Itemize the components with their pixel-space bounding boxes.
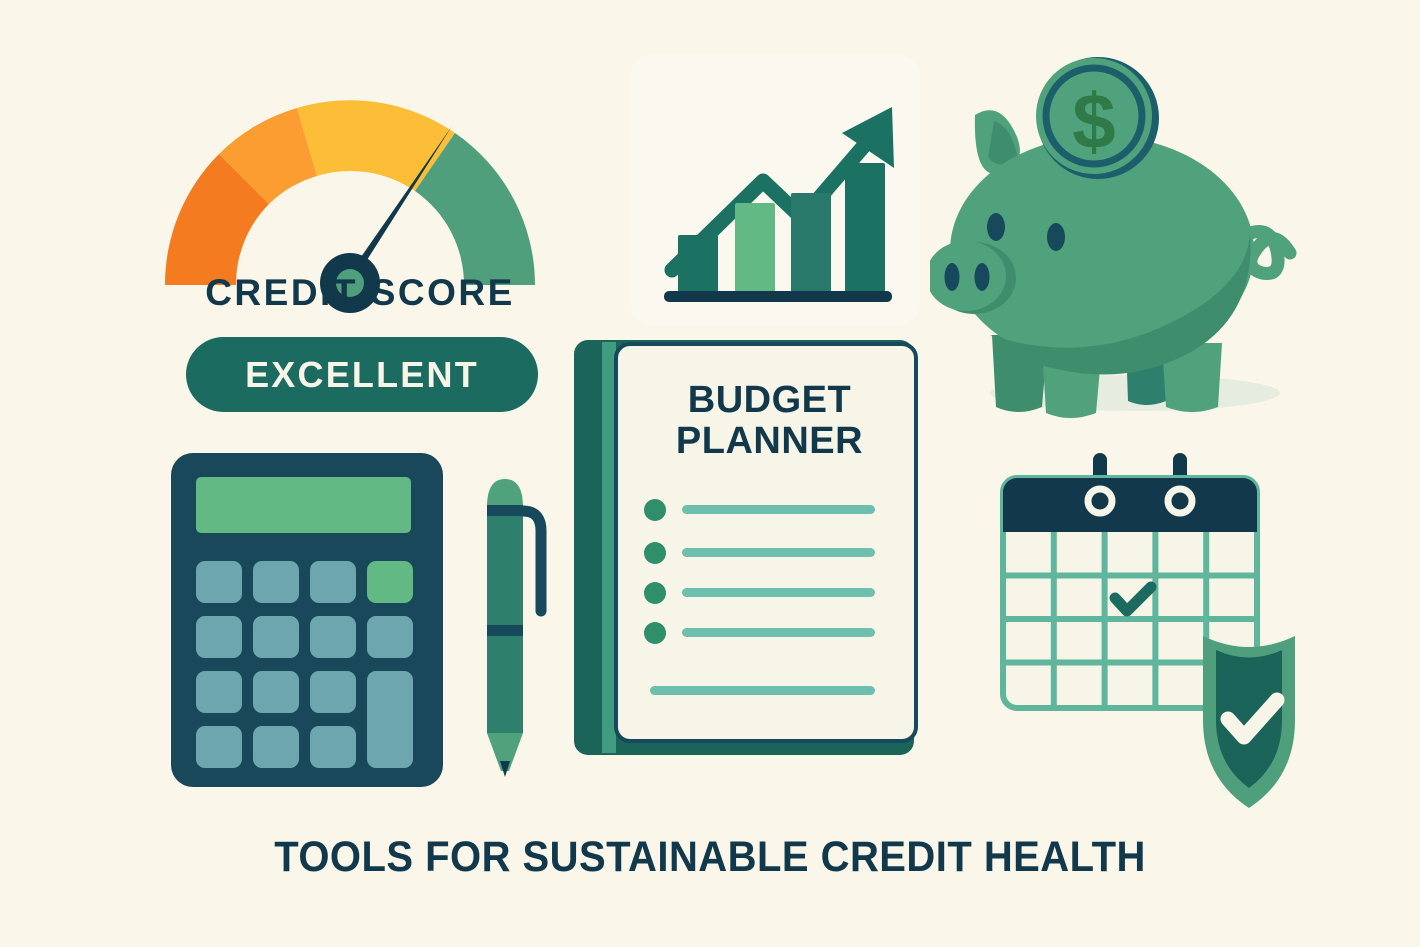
- calculator-key[interactable]: [253, 671, 299, 713]
- calendar-svg: [985, 450, 1295, 810]
- poster-canvas: CREDIT SCORE EXCELLENT: [0, 0, 1420, 947]
- pen-band-lower: [487, 625, 523, 636]
- calculator-key[interactable]: [196, 561, 242, 603]
- pen-illustration: [470, 465, 570, 785]
- budget-planner-title: BUDGET PLANNER: [632, 380, 907, 462]
- piggy-nostril-right: [975, 263, 990, 291]
- chart-bar-1: [678, 235, 718, 292]
- growth-chart-svg: [630, 55, 920, 325]
- chart-bar-4: [845, 163, 885, 292]
- planner-bullet: [644, 582, 666, 604]
- calculator-display[interactable]: [196, 477, 411, 533]
- dollar-sign-glyph: $: [1072, 77, 1115, 165]
- calculator-illustration: [168, 450, 448, 790]
- calculator-key[interactable]: [253, 726, 299, 768]
- calendar-shield-illustration: [985, 450, 1295, 810]
- credit-rating-badge[interactable]: EXCELLENT: [186, 337, 538, 412]
- chart-bar-2: [735, 203, 775, 292]
- calculator-key[interactable]: [367, 616, 413, 658]
- piggy-eye-left: [987, 213, 1005, 241]
- chart-baseline: [664, 291, 892, 302]
- piggy-bank-svg: $: [930, 55, 1310, 425]
- growth-chart-card: [630, 55, 920, 325]
- planner-bullet: [644, 622, 666, 644]
- planner-rule: [682, 588, 875, 597]
- planner-rule: [682, 628, 875, 637]
- calculator-key[interactable]: [196, 616, 242, 658]
- calculator-key-accent[interactable]: [367, 561, 413, 603]
- piggy-eye-right: [1047, 223, 1065, 251]
- poster-caption: TOOLS FOR SUSTAINABLE CREDIT HEALTH: [50, 833, 1371, 882]
- dollar-coin-icon: $: [1036, 57, 1159, 179]
- calculator-key-tall[interactable]: [367, 671, 413, 768]
- credit-score-label: CREDIT SCORE: [150, 272, 570, 314]
- calculator-key[interactable]: [196, 726, 242, 768]
- calculator-key[interactable]: [310, 671, 356, 713]
- calendar-header-bar: [1003, 478, 1257, 532]
- pen-body: [487, 505, 523, 733]
- planner-bullet: [644, 542, 666, 564]
- planner-rule: [682, 548, 875, 557]
- piggy-nostril-left: [945, 263, 960, 291]
- calculator-key[interactable]: [310, 616, 356, 658]
- planner-bullet: [644, 499, 666, 521]
- pen-clip: [523, 511, 541, 611]
- calculator-key[interactable]: [310, 561, 356, 603]
- calculator-key[interactable]: [196, 671, 242, 713]
- chart-bar-3: [791, 193, 831, 292]
- shield-check-icon: [1203, 636, 1295, 808]
- planner-rule-extra: [650, 686, 875, 695]
- budget-planner-illustration: BUDGET PLANNER: [572, 338, 922, 763]
- calculator-key[interactable]: [310, 726, 356, 768]
- calculator-key[interactable]: [253, 561, 299, 603]
- calculator-svg: [168, 450, 448, 790]
- piggy-bank-illustration: $: [930, 55, 1310, 425]
- calculator-key[interactable]: [253, 616, 299, 658]
- pen-svg: [470, 465, 570, 785]
- credit-rating-badge-text: EXCELLENT: [245, 354, 479, 396]
- planner-rule: [682, 505, 875, 514]
- planner-spine-stripe: [602, 342, 616, 753]
